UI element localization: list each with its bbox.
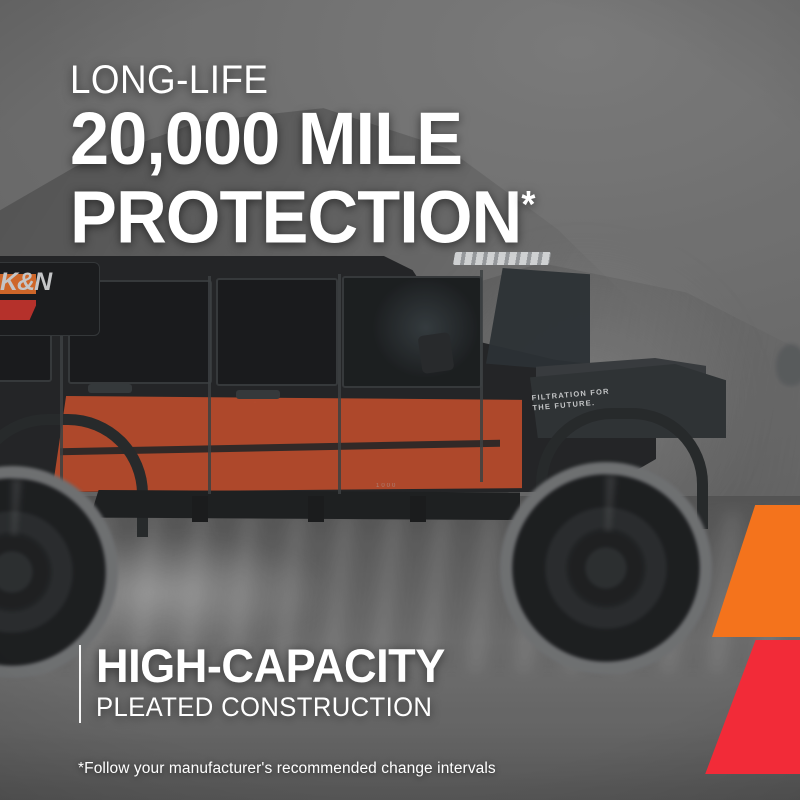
- headline-line-2-text: PROTECTION: [70, 176, 521, 259]
- headline-line-1: 20,000 MILE: [70, 104, 462, 174]
- subhead-divider-rule: [79, 645, 81, 723]
- subhead-subtitle: PLEATED CONSTRUCTION: [96, 692, 432, 722]
- subhead-title: HIGH-CAPACITY: [96, 641, 445, 691]
- headline-eyebrow: LONG-LIFE: [70, 58, 268, 102]
- footnote-disclaimer: *Follow your manufacturer's recommended …: [78, 760, 496, 778]
- headline-asterisk: *: [521, 184, 535, 226]
- headline-line-2: PROTECTION*: [70, 170, 535, 253]
- advertisement-banner: 1000 FILTRATION FOR THE FUTURE. K&N LONG…: [0, 0, 800, 800]
